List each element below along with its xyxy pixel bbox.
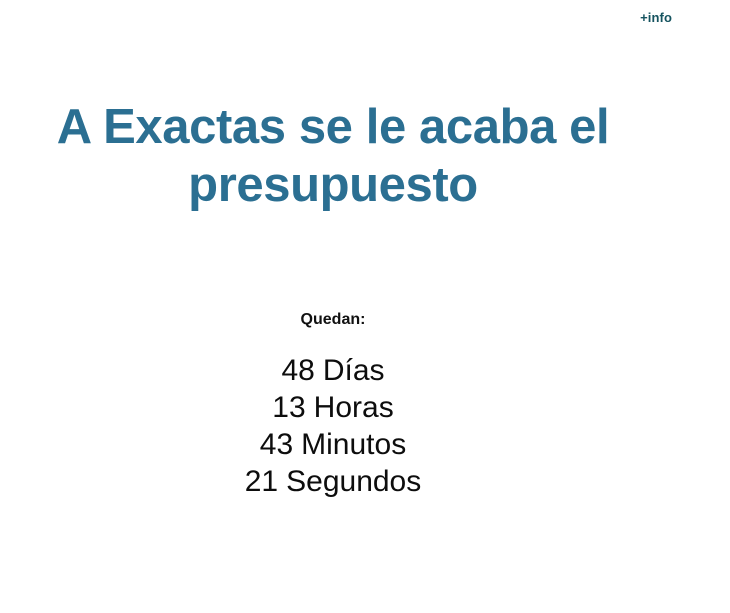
countdown-seconds-value: 21 [245,465,278,498]
countdown-item-minutes: 43Minutos [0,426,666,463]
main-content: A Exactas se le acaba el presupuesto Que… [0,0,666,613]
page-root: +info A Exactas se le acaba el presupues… [0,0,730,613]
countdown-days-value: 48 [281,354,314,387]
countdown-label: Quedan: [0,310,666,330]
countdown-minutes-unit: Minutos [301,428,406,461]
countdown-days-unit: Días [323,354,385,387]
countdown-hours-unit: Horas [314,391,394,424]
countdown-item-seconds: 21Segundos [0,463,666,500]
countdown-item-days: 48Días [0,352,666,389]
countdown-list: 48Días 13Horas 43Minutos 21Segundos [0,352,666,500]
countdown-minutes-value: 43 [260,428,293,461]
countdown-block: Quedan: 48Días 13Horas 43Minutos 21Segun… [0,310,666,500]
countdown-hours-value: 13 [272,391,305,424]
page-title: A Exactas se le acaba el presupuesto [0,98,666,214]
countdown-seconds-unit: Segundos [286,465,421,498]
page-title-line-2: presupuesto [0,156,666,214]
page-title-line-1: A Exactas se le acaba el [0,98,666,156]
countdown-item-hours: 13Horas [0,389,666,426]
